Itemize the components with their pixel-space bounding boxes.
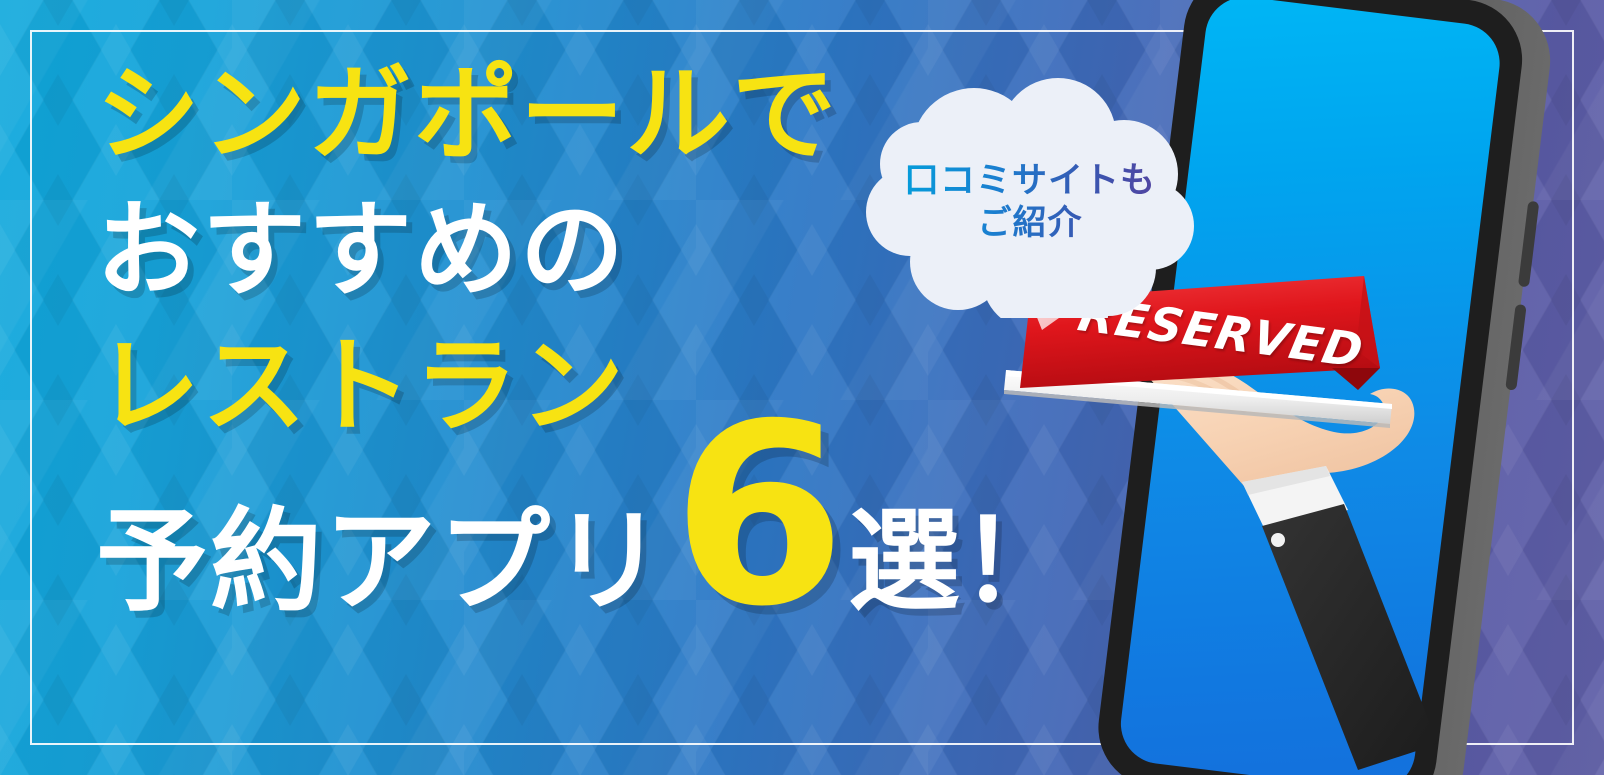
phone-power-button: [1505, 304, 1526, 391]
bubble-text-line1: 口コミサイトも: [884, 160, 1176, 203]
bubble-text: 口コミサイトも ご紹介: [884, 160, 1176, 244]
suit-sleeve: [1262, 504, 1438, 770]
headline-line-4: 予約アプリ 6 選！: [96, 468, 1072, 618]
headline-line-4-prefix: 予約アプリ: [96, 506, 666, 618]
headline-count-number: 6: [672, 413, 846, 618]
phone-volume-button: [1518, 201, 1539, 288]
bubble-text-line2: ご紹介: [884, 203, 1176, 244]
headline-line-3: レストラン: [96, 334, 1072, 454]
headline-line-4-suffix: 選！: [848, 506, 1072, 618]
cuff-button: [1271, 533, 1285, 547]
promo-banner: RESERVED 口コミサイトも ご紹介 シンガポールで おすすめの レストラン…: [0, 0, 1604, 775]
